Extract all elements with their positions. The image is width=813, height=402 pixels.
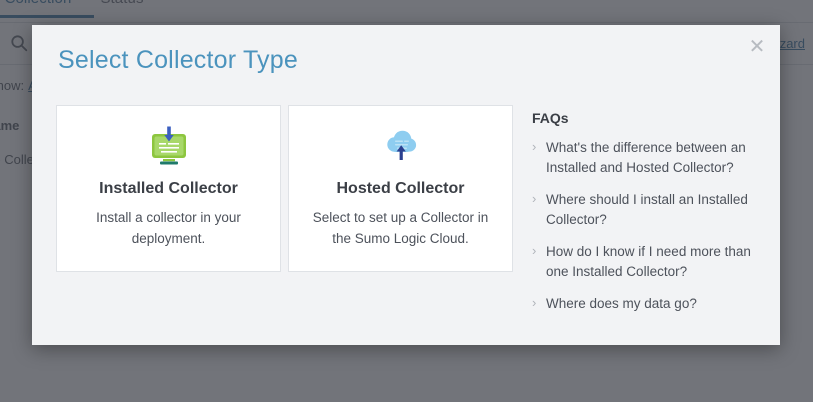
modal-body: Installed Collector Install a collector … (32, 105, 780, 345)
faq-item-label: Where does my data go? (546, 296, 697, 311)
chevron-right-icon: › (532, 242, 536, 261)
card-installed-collector-title: Installed Collector (99, 180, 238, 198)
faq-item[interactable]: › What's the difference between an Insta… (532, 138, 757, 177)
faq-item-label: What's the difference between an Install… (546, 140, 746, 175)
card-hosted-collector-title: Hosted Collector (336, 180, 464, 198)
faq-item-label: How do I know if I need more than one In… (546, 244, 751, 279)
close-icon[interactable]: ✕ (744, 34, 770, 60)
card-installed-collector[interactable]: Installed Collector Install a collector … (56, 105, 281, 272)
faq-item-label: Where should I install an Installed Coll… (546, 192, 748, 227)
faq-item[interactable]: › Where does my data go? (532, 294, 757, 314)
page-title: Select Collector Type (58, 46, 298, 75)
installed-collector-monitor-download-icon (146, 124, 192, 172)
faq-section: FAQs › What's the difference between an … (532, 110, 757, 327)
card-installed-collector-description: Install a collector in your deployment. (79, 208, 259, 250)
screen: Collection Status Search Setup Wizard Sh… (0, 0, 813, 402)
chevron-right-icon: › (532, 138, 536, 157)
faq-item[interactable]: › How do I know if I need more than one … (532, 242, 757, 281)
select-collector-type-modal: ✕ Select Collector Type (32, 25, 780, 345)
hosted-collector-cloud-upload-icon (378, 124, 424, 172)
faq-heading: FAQs (532, 110, 757, 126)
chevron-right-icon: › (532, 294, 536, 313)
card-hosted-collector[interactable]: Hosted Collector Select to set up a Coll… (288, 105, 513, 272)
collector-type-cards: Installed Collector Install a collector … (56, 105, 513, 272)
chevron-right-icon: › (532, 190, 536, 209)
card-hosted-collector-description: Select to set up a Collector in the Sumo… (311, 208, 491, 250)
faq-item[interactable]: › Where should I install an Installed Co… (532, 190, 757, 229)
